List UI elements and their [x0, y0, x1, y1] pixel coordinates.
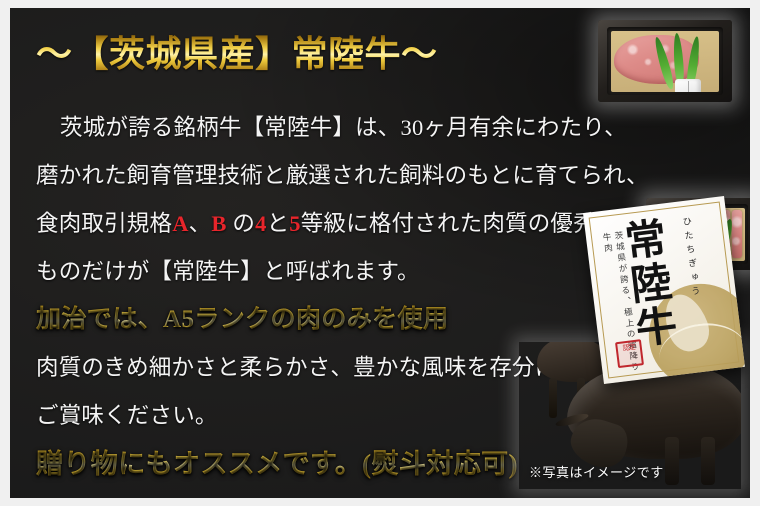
foreground-cow-leg: [665, 437, 679, 485]
body-line-3-part-c: の: [227, 211, 256, 236]
body-line-2: 磨かれた飼育管理技術と厳選された飼料のもとに育てられ、: [36, 152, 616, 200]
body-line-3: 食肉取引規格A、B の4と5等級に格付された肉質の優秀な: [36, 200, 616, 248]
steak-tray-inner: [611, 31, 718, 92]
grade-b-accent: B: [211, 211, 226, 236]
body-line-3-part-a: 食肉取引規格: [36, 211, 172, 236]
body-line-3-part-e: 等級に格付された肉質の優秀な: [301, 211, 619, 236]
background-cow-leg: [549, 378, 557, 418]
grade-4-accent: 4: [255, 211, 266, 236]
grade-a-accent: A: [172, 211, 188, 236]
body-line-3-part-d: と: [267, 211, 290, 236]
promo-banner: 〜【茨城県産】常陸牛〜 茨城が誇る銘柄牛【常陸牛】は、30ヶ月有余にわたり、 磨…: [10, 8, 750, 498]
image-disclaimer-caption: ※写真はイメージです: [529, 462, 664, 481]
steak-cut: [614, 35, 700, 84]
body-line-3-part-b: 、: [189, 211, 212, 236]
body-line-4: ものだけが【常陸牛】と呼ばれます。: [36, 248, 616, 296]
highlight-line-a5: 加治では、A5ランクの肉のみを使用: [36, 296, 616, 344]
steak-photo: [598, 20, 732, 102]
grade-5-accent: 5: [289, 211, 300, 236]
certificate-seal-text: 認定: [617, 341, 642, 366]
body-line-1: 茨城が誇る銘柄牛【常陸牛】は、30ヶ月有余にわたり、: [36, 104, 616, 152]
page-title: 〜【茨城県産】常陸牛〜: [36, 32, 438, 77]
certificate-card: 常陸牛 ひたちぎゅう 茨城県が誇る、極上の霜降り牛肉 認定: [583, 196, 745, 384]
foreground-cow-leg: [701, 437, 715, 485]
beef-slice: [732, 210, 742, 258]
certificate-seal-icon: 認定: [615, 339, 644, 368]
